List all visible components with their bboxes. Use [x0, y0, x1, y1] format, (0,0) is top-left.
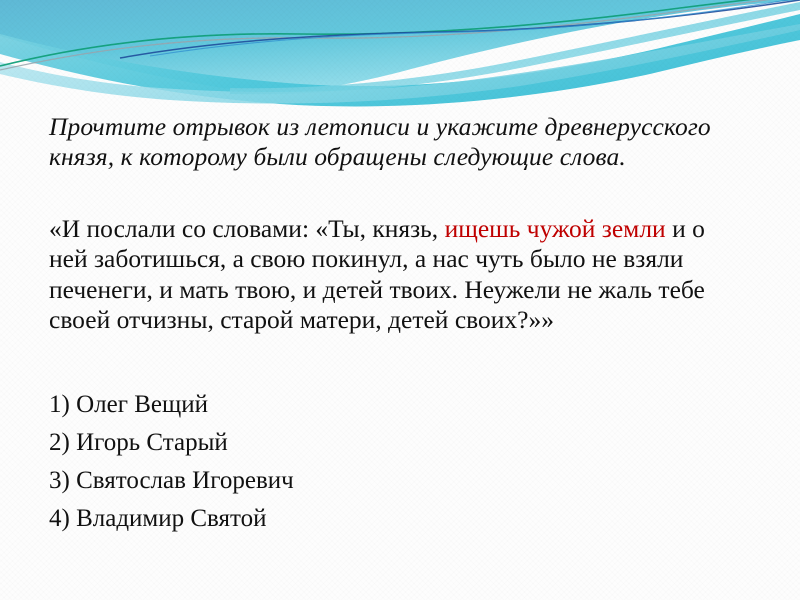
- answer-option-4[interactable]: 4) Владимир Святой: [49, 500, 649, 538]
- answer-option-1[interactable]: 1) Олег Вещий: [49, 386, 649, 424]
- passage-highlight: ищешь чужой земли: [445, 214, 666, 243]
- answer-options-list: 1) Олег Вещий 2) Игорь Старый 3) Святосл…: [49, 386, 649, 538]
- chronicle-passage: «И послали со словами: «Ты, князь, ищешь…: [49, 214, 725, 336]
- passage-part-1: «И послали со словами: «Ты, князь,: [49, 214, 445, 243]
- answer-option-3[interactable]: 3) Святослав Игоревич: [49, 462, 649, 500]
- slide-canvas: Прочтите отрывок из летописи и укажите д…: [0, 0, 800, 600]
- teal-wave-ribbon-banner-icon: [0, 0, 800, 120]
- question-prompt: Прочтите отрывок из летописи и укажите д…: [49, 112, 721, 173]
- answer-option-2[interactable]: 2) Игорь Старый: [49, 424, 649, 462]
